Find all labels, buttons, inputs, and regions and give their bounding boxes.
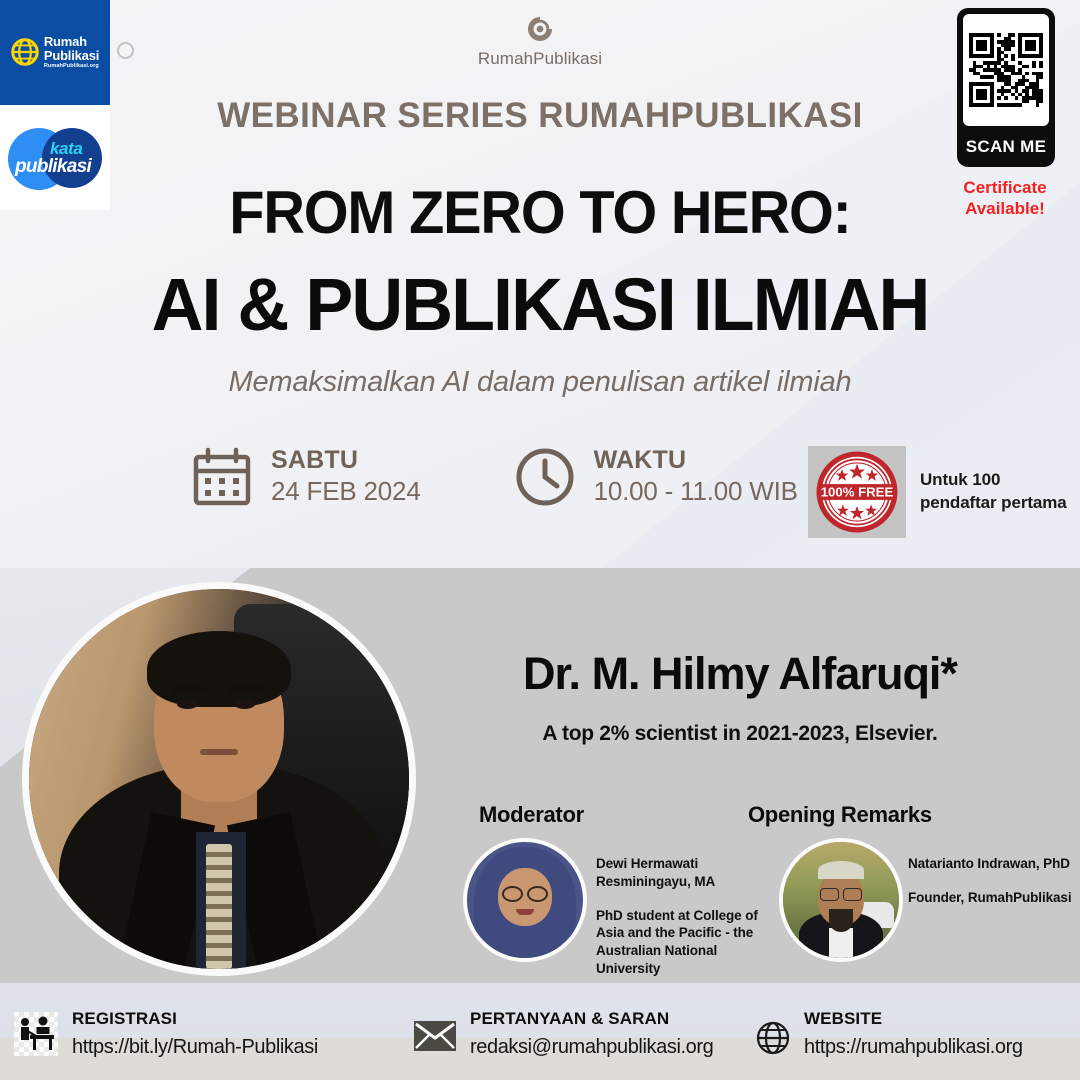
registration-label: REGISTRASI — [72, 1010, 318, 1029]
footer-website[interactable]: WEBSITE https://rumahpublikasi.org — [756, 1010, 1023, 1058]
speaker-credential: A top 2% scientist in 2021-2023, Elsevie… — [440, 722, 1040, 746]
clock-icon — [513, 445, 577, 509]
opening-remarks-avatar — [779, 838, 903, 962]
calendar-icon — [190, 445, 254, 509]
questions-email[interactable]: redaksi@rumahpublikasi.org — [470, 1036, 713, 1058]
series-title: WEBINAR SERIES RUMAHPUBLIKASI — [0, 96, 1080, 136]
certificate-line-2: Available! — [946, 199, 1064, 220]
opening-remarks-name: Natarianto Indrawan, PhD — [908, 855, 1078, 873]
speaker-name: Dr. M. Hilmy Alfaruqi* — [440, 648, 1040, 700]
moderator-role-label: Moderator — [479, 802, 584, 828]
svg-text:100% FREE: 100% FREE — [821, 484, 894, 499]
opening-remarks-details: Natarianto Indrawan, PhD Founder, RumahP… — [908, 855, 1078, 907]
free-note-line-1: Untuk 100 — [920, 469, 1067, 492]
qr-code-matrix — [969, 33, 1043, 107]
free-badge-group: 100% FREE Untuk 100 pendaftar pertama — [808, 446, 1067, 538]
headline-line-1: FROM ZERO TO HERO: — [22, 178, 1059, 247]
moderator-name-line-2: Resminingayu, MA — [596, 873, 761, 891]
qr-code-card[interactable]: SCAN ME — [957, 8, 1055, 167]
certificate-line-1: Certificate — [946, 178, 1064, 199]
moderator-avatar — [463, 838, 587, 962]
opening-remarks-affil: Founder, RumahPublikasi — [908, 889, 1078, 907]
moderator-affil-line-2: Asia and the Pacific - the — [596, 924, 761, 942]
moderator-details: Dewi Hermawati Resminingayu, MA PhD stud… — [596, 855, 761, 978]
brand-header: RumahPublikasi — [0, 14, 1080, 69]
free-note-line-2: pendaftar pertama — [920, 492, 1067, 515]
moderator-affil-line-1: PhD student at College of — [596, 907, 761, 925]
headline-line-2: AI & PUBLIKASI ILMIAH — [16, 262, 1064, 347]
target-circle-icon — [525, 14, 555, 44]
certificate-note: Certificate Available! — [946, 178, 1064, 219]
moderator-name-line-1: Dewi Hermawati — [596, 855, 761, 873]
website-url[interactable]: https://rumahpublikasi.org — [804, 1036, 1023, 1058]
globe-icon — [756, 1021, 790, 1055]
hundred-percent-free-seal-icon: 100% FREE — [813, 448, 901, 536]
brand-name: RumahPublikasi — [478, 49, 602, 69]
free-seal-box: 100% FREE — [808, 446, 906, 538]
kata-word-2: publikasi — [15, 156, 91, 178]
event-date-value: 24 FEB 2024 — [271, 476, 421, 507]
website-label: WEBSITE — [804, 1010, 1023, 1029]
footer-questions[interactable]: PERTANYAAN & SARAN redaksi@rumahpublikas… — [414, 1010, 713, 1058]
registration-url[interactable]: https://bit.ly/Rumah-Publikasi — [72, 1036, 318, 1058]
scan-me-label: SCAN ME — [963, 126, 1049, 167]
subtitle: Memaksimalkan AI dalam penulisan artikel… — [0, 366, 1080, 399]
questions-label: PERTANYAAN & SARAN — [470, 1010, 713, 1029]
event-info-row: SABTU 24 FEB 2024 WAKTU 10.00 - 11.00 WI… — [190, 445, 798, 509]
opening-remarks-role-label: Opening Remarks — [748, 802, 932, 828]
event-time-item: WAKTU 10.00 - 11.00 WIB — [513, 445, 798, 509]
registration-desk-icon — [14, 1012, 58, 1056]
free-badge-note: Untuk 100 pendaftar pertama — [920, 469, 1067, 515]
speaker-photo — [22, 582, 416, 976]
webinar-poster: Rumah Publikasi RumahPublikasi.org kata … — [0, 0, 1080, 1080]
event-date-label: SABTU — [271, 447, 421, 475]
moderator-affil-line-4: University — [596, 960, 761, 978]
event-time-value: 10.00 - 11.00 WIB — [594, 476, 798, 507]
event-time-label: WAKTU — [594, 447, 798, 475]
event-date-item: SABTU 24 FEB 2024 — [190, 445, 421, 509]
qr-code-image — [963, 14, 1049, 126]
moderator-affil-line-3: Australian National — [596, 942, 761, 960]
footer-registration[interactable]: REGISTRASI https://bit.ly/Rumah-Publikas… — [14, 1010, 318, 1058]
envelope-icon — [414, 1021, 456, 1051]
